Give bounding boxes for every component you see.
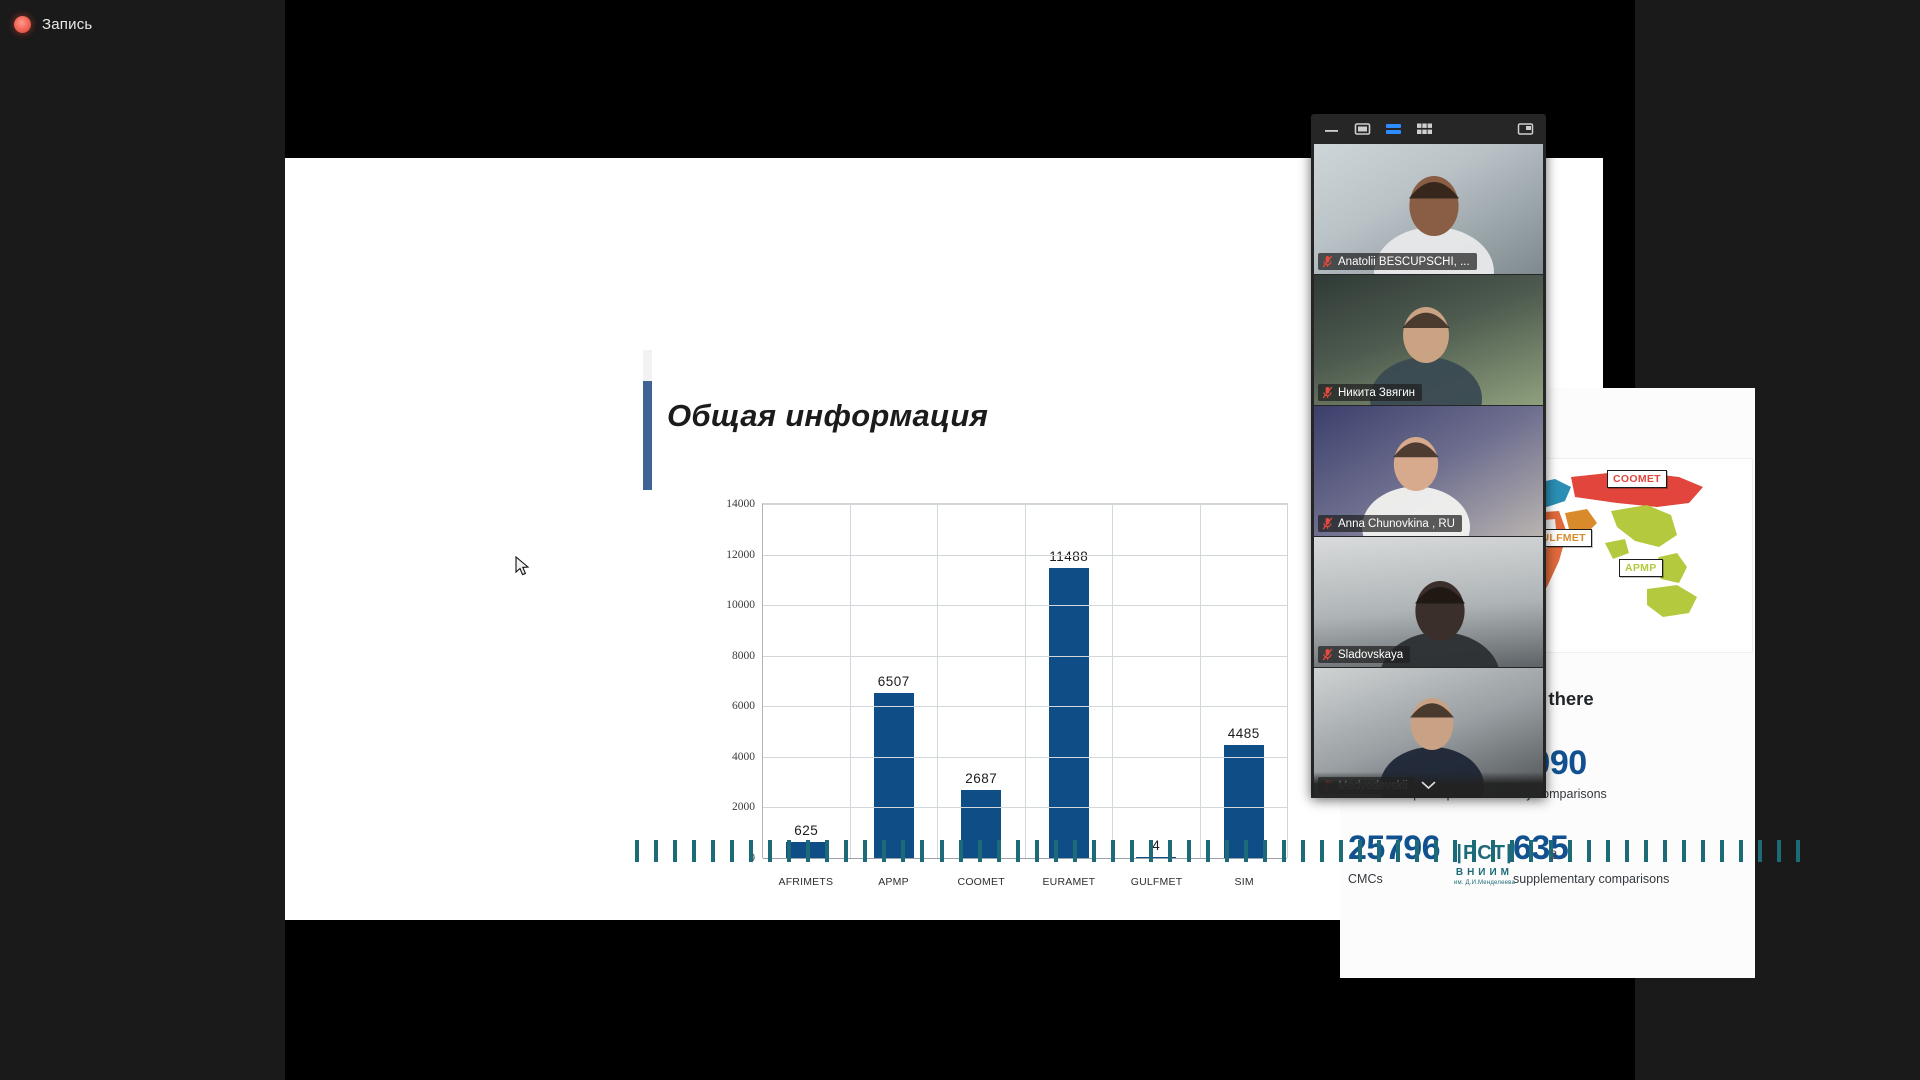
footer-tick xyxy=(768,840,772,862)
footer-tick xyxy=(749,840,753,862)
footer-tick xyxy=(730,840,734,862)
footer-tick xyxy=(1415,840,1419,862)
footer-tick xyxy=(1568,840,1572,862)
mic-muted-icon xyxy=(1322,517,1333,530)
footer-tick xyxy=(863,840,867,862)
gallery-view-icon[interactable] xyxy=(1416,122,1433,136)
chart-bar xyxy=(874,693,914,858)
chart-gridline xyxy=(763,706,1287,707)
recording-label: Запись xyxy=(42,16,92,33)
footer-tick xyxy=(1625,840,1629,862)
participant-tile[interactable]: Sladovskaya xyxy=(1314,537,1543,667)
chart-bar xyxy=(1049,568,1089,858)
footer-tick xyxy=(1720,840,1724,862)
footer-tick xyxy=(787,840,791,862)
footer-tick xyxy=(1225,840,1229,862)
footer-tick-decoration xyxy=(635,840,1800,862)
chart-x-tick-label: AFRIMETS xyxy=(762,876,850,888)
chart-y-tick-label: 14000 xyxy=(726,498,755,510)
chart-bars: 625650726871148844485 xyxy=(763,504,1287,858)
bar-chart: 625650726871148844485 200040006000800010… xyxy=(700,498,1290,898)
participant-tiles: Anatolii BESCUPSCHI, ...Никита ЗвягинAnn… xyxy=(1311,144,1546,798)
chart-bar-slot: 11488 xyxy=(1026,504,1114,858)
chart-y-tick-label: 6000 xyxy=(732,700,755,712)
chart-x-tick-label: GULFMET xyxy=(1113,876,1201,888)
mic-muted-icon xyxy=(1322,386,1333,399)
footer-tick xyxy=(1206,840,1210,862)
footer-tick xyxy=(978,840,982,862)
footer-tick xyxy=(1587,840,1591,862)
footer-tick xyxy=(1168,840,1172,862)
footer-tick xyxy=(1796,840,1800,862)
logo-sub-text: ВНИИМ xyxy=(1454,867,1515,878)
recording-indicator[interactable]: Запись xyxy=(0,0,285,33)
participant-tile[interactable]: Никита Звягин xyxy=(1314,275,1543,405)
footer-tick xyxy=(1092,840,1096,862)
participants-filmstrip: Anatolii BESCUPSCHI, ...Никита ЗвягинAnn… xyxy=(1311,114,1546,798)
footer-tick xyxy=(825,840,829,862)
chart-gridline xyxy=(763,555,1287,556)
map-tag-apmp: APMP xyxy=(1619,559,1663,577)
footer-tick xyxy=(920,840,924,862)
slide-page-number: 2 xyxy=(1550,848,1557,862)
chart-bar-slot: 6507 xyxy=(851,504,939,858)
participant-tile[interactable]: Anatolii BESCUPSCHI, ... xyxy=(1314,144,1543,274)
participant-name-label: Никита Звягин xyxy=(1338,387,1415,399)
page-title: Общая информация xyxy=(667,398,988,434)
footer-tick xyxy=(1054,840,1058,862)
participant-name-badge: Anatolii BESCUPSCHI, ... xyxy=(1318,253,1477,270)
chart-gridline xyxy=(763,605,1287,606)
footer-tick xyxy=(1149,840,1153,862)
footer-tick xyxy=(1663,840,1667,862)
footer-tick xyxy=(1777,840,1781,862)
chart-bar-slot: 4485 xyxy=(1201,504,1288,858)
footer-tick xyxy=(1529,840,1533,862)
footer-tick xyxy=(673,840,677,862)
chart-y-tick-label: 10000 xyxy=(726,599,755,611)
participant-tile[interactable]: Anna Chunovkina , RU xyxy=(1314,406,1543,536)
participant-name-label: Anna Chunovkina , RU xyxy=(1338,518,1455,530)
chart-bar-value-label: 6507 xyxy=(878,674,910,689)
chart-y-tick-label: 8000 xyxy=(732,650,755,662)
mouse-cursor-icon xyxy=(513,556,535,578)
chart-y-tick-label: 2000 xyxy=(732,801,755,813)
footer-tick xyxy=(1434,840,1438,862)
footer-tick xyxy=(1377,840,1381,862)
chart-bar-value-label: 625 xyxy=(794,823,818,838)
chart-y-tick-label: 4000 xyxy=(732,751,755,763)
chart-x-tick-label: SIM xyxy=(1200,876,1288,888)
chart-x-axis-labels: AFRIMETSAPMPCOOMETEURAMETGULFMETSIM xyxy=(762,876,1288,888)
record-dot-icon xyxy=(14,16,31,33)
footer-tick xyxy=(1016,840,1020,862)
footer-tick xyxy=(1606,840,1610,862)
chart-plot-area: 625650726871148844485 200040006000800010… xyxy=(762,503,1288,858)
recording-sidebar: Запись xyxy=(0,0,285,1080)
footer-tick xyxy=(1187,840,1191,862)
chart-y-tick-label: 12000 xyxy=(726,549,755,561)
footer-tick xyxy=(1358,840,1362,862)
participant-name-badge: Anna Chunovkina , RU xyxy=(1318,515,1462,532)
chart-gridline xyxy=(763,757,1287,758)
chart-bar-slot: 625 xyxy=(763,504,851,858)
chart-x-tick-label: COOMET xyxy=(937,876,1025,888)
footer-tick xyxy=(1073,840,1077,862)
footer-tick xyxy=(1644,840,1648,862)
footer-tick xyxy=(692,840,696,862)
speaker-view-icon[interactable] xyxy=(1354,122,1371,136)
chart-bar-slot: 4 xyxy=(1113,504,1201,858)
participant-name-label: Sladovskaya xyxy=(1338,649,1403,661)
footer-tick xyxy=(1682,840,1686,862)
footer-tick xyxy=(1758,840,1762,862)
footer-tick xyxy=(1301,840,1305,862)
chart-gridline xyxy=(763,807,1287,808)
footer-tick xyxy=(711,840,715,862)
mic-muted-icon xyxy=(1322,255,1333,268)
footer-tick xyxy=(654,840,658,862)
filmstrip-scroll-down[interactable] xyxy=(1311,772,1546,798)
footer-tick xyxy=(1111,840,1115,862)
chevron-down-icon xyxy=(1421,781,1436,790)
map-tag-coomet: COOMET xyxy=(1607,470,1667,488)
minimize-icon[interactable] xyxy=(1323,122,1340,136)
footer-tick xyxy=(1739,840,1743,862)
chart-bar-value-label: 11488 xyxy=(1049,549,1088,564)
footer-tick xyxy=(1701,840,1705,862)
chart-x-tick-label: APMP xyxy=(850,876,938,888)
chart-bar-value-label: 4485 xyxy=(1228,726,1260,741)
zoom-meeting-window: Запись Общая информация 6256507268711488… xyxy=(0,0,1920,1080)
chart-x-tick-label: EURAMET xyxy=(1025,876,1113,888)
footer-tick xyxy=(1244,840,1248,862)
logo-sub2-text: им. Д.И.Менделеева xyxy=(1454,880,1515,886)
footer-tick xyxy=(635,840,639,862)
logo-main-text: |PCT| xyxy=(1454,842,1515,865)
footer-tick xyxy=(1035,840,1039,862)
chart-gridline xyxy=(763,656,1287,657)
chart-bar-slot: 2687 xyxy=(938,504,1026,858)
footer-tick xyxy=(806,840,810,862)
participant-name-badge: Никита Звягин xyxy=(1318,384,1422,401)
footer-tick xyxy=(1263,840,1267,862)
footer-tick xyxy=(901,840,905,862)
footer-tick xyxy=(997,840,1001,862)
mic-muted-icon xyxy=(1322,648,1333,661)
vniim-logo: |PCT| ВНИИМ им. Д.И.Менделеева xyxy=(1454,842,1515,886)
title-accent-bar xyxy=(643,350,652,490)
footer-tick xyxy=(1339,840,1343,862)
participant-name-badge: Sladovskaya xyxy=(1318,646,1410,663)
chart-gridline xyxy=(763,504,1287,505)
kcdb-stat-label: supplementary comparisons xyxy=(1513,870,1728,888)
chart-bar-value-label: 2687 xyxy=(965,771,997,786)
footer-tick xyxy=(882,840,886,862)
footer-tick xyxy=(940,840,944,862)
filmstrip-toolbar xyxy=(1311,114,1546,144)
filmstrip-view-icon[interactable] xyxy=(1385,122,1402,136)
footer-tick xyxy=(844,840,848,862)
footer-tick xyxy=(959,840,963,862)
footer-tick xyxy=(1396,840,1400,862)
footer-tick xyxy=(1320,840,1324,862)
participant-name-label: Anatolii BESCUPSCHI, ... xyxy=(1338,256,1470,268)
footer-tick xyxy=(1282,840,1286,862)
popout-icon[interactable] xyxy=(1517,122,1534,136)
footer-tick xyxy=(1130,840,1134,862)
